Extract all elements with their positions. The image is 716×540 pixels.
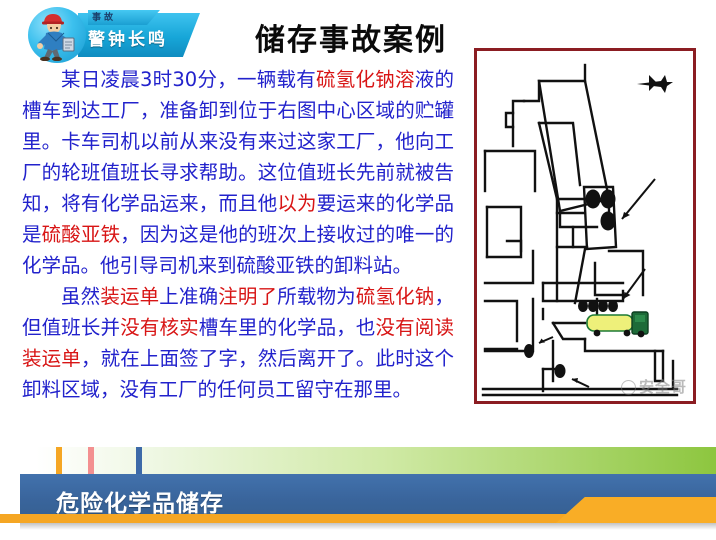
paragraph-2: 虽然装运单上准确注明了所载物为硫氢化钠，但值班长并没有核实槽车里的化学品，也没有… <box>22 281 454 405</box>
accent-bar-pink <box>88 447 94 474</box>
text-run: 上准确 <box>159 285 218 308</box>
accent-bar-orange <box>56 447 62 474</box>
north-arrow-icon <box>637 75 673 93</box>
text-run: 所载物为 <box>277 285 356 308</box>
text-run: ，就在上面签了字，然后离开了。此时这个卸料区域，没有工厂的任何员工留守在那里。 <box>22 347 454 401</box>
case-body-text: 某日凌晨3时30分，一辆载有硫氢化钠溶液的槽车到达工厂，准备卸到位于右图中心区域… <box>22 64 454 405</box>
accent-bar-blue <box>136 447 142 474</box>
plant-site-plan: 安全哥 <box>474 48 696 404</box>
page-title: 储存事故案例 <box>255 15 447 59</box>
text-run: 注明了 <box>218 285 277 308</box>
text-run: 硫氢化钠溶 <box>316 68 415 91</box>
text-run: 没有核实 <box>120 316 199 339</box>
watermark: 安全哥 <box>621 376 687 397</box>
text-run: 虽然 <box>61 285 100 308</box>
alert-badge: 事故 警钟长鸣 <box>28 7 200 61</box>
tank-truck <box>578 300 648 337</box>
text-run: 槽车里的化学品，也 <box>199 316 376 339</box>
badge-big-label: 警钟长鸣 <box>88 27 200 53</box>
text-run: 某日凌晨3时30分，一辆载有 <box>61 68 316 91</box>
site-plan-drawing <box>477 51 693 401</box>
storage-tanks <box>586 190 616 231</box>
text-run: 硫酸亚铁 <box>42 223 121 246</box>
text-run: 装运单 <box>100 285 159 308</box>
paragraph-1: 某日凌晨3时30分，一辆载有硫氢化钠溶液的槽车到达工厂，准备卸到位于右图中心区域… <box>22 64 454 281</box>
footer-shadow <box>20 523 716 530</box>
text-run: 以为 <box>277 192 316 215</box>
footer-title: 危险化学品储存 <box>56 484 224 518</box>
watermark-dot-icon <box>621 380 636 395</box>
safety-worker-icon <box>32 9 82 61</box>
watermark-text: 安全哥 <box>639 378 687 396</box>
text-run: 硫氢化钠 <box>356 285 435 308</box>
badge-small-label: 事故 <box>92 10 158 24</box>
